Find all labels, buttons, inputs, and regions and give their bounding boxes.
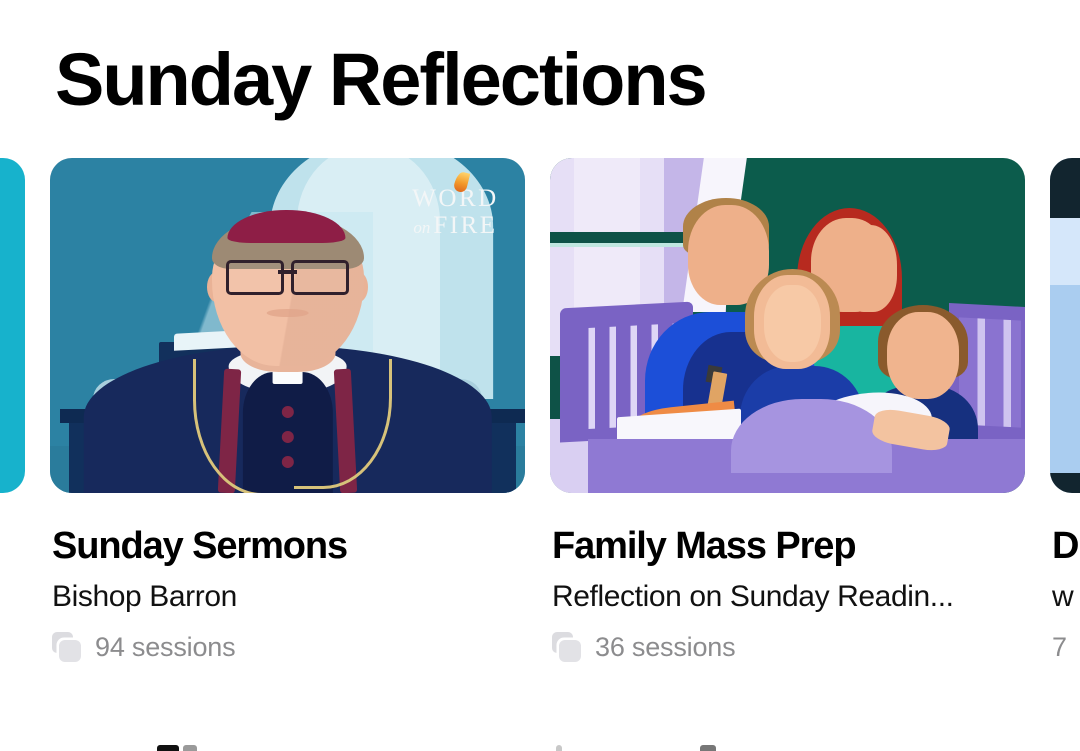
layers-icon bbox=[552, 632, 582, 662]
card-text-family-mass-prep: Family Mass Prep Reflection on Sunday Re… bbox=[550, 524, 1025, 663]
card-subtitle: w bbox=[1052, 579, 1080, 615]
teal-cover-art bbox=[0, 158, 25, 493]
program-card-family-mass-prep[interactable]: Family Mass Prep Reflection on Sunday Re… bbox=[550, 158, 1025, 663]
card-meta: 94 sessions bbox=[52, 631, 523, 663]
card-artwork-peek-right bbox=[1050, 158, 1080, 493]
card-artwork-family-mass-prep[interactable] bbox=[550, 158, 1025, 493]
eyeglasses-right-lens bbox=[291, 260, 349, 294]
eyeglasses-left-lens bbox=[226, 260, 284, 294]
girl-face bbox=[764, 285, 821, 362]
card-artwork-peek-left bbox=[0, 158, 25, 493]
card-title: D bbox=[1052, 524, 1080, 568]
program-card-sunday-sermons[interactable]: WORD onFIRE Sunday Sermons Bishop Barron… bbox=[50, 158, 525, 663]
layers-icon bbox=[52, 632, 82, 662]
logo-word-on: on bbox=[413, 218, 430, 237]
card-sessions-count: 94 sessions bbox=[95, 631, 235, 663]
word-on-fire-logo: WORD onFIRE bbox=[403, 174, 508, 238]
eyeglasses-bridge bbox=[278, 270, 297, 274]
next-section-bleed bbox=[0, 745, 1080, 751]
sunday-reflections-screen: Sunday Reflections bbox=[0, 0, 1080, 751]
bishop-barron-illustration: WORD onFIRE bbox=[50, 158, 525, 493]
card-title: Sunday Sermons bbox=[52, 524, 523, 568]
card-sessions-count: 7 bbox=[1052, 631, 1080, 663]
page-title: Sunday Reflections bbox=[55, 40, 706, 120]
card-meta: 36 sessions bbox=[552, 631, 1023, 663]
card-artwork-sunday-sermons[interactable]: WORD onFIRE bbox=[50, 158, 525, 493]
card-sessions-count: 36 sessions bbox=[595, 631, 735, 663]
mother-face bbox=[840, 225, 897, 312]
logo-line-2: onFIRE bbox=[403, 213, 508, 238]
card-text-peek-left bbox=[0, 524, 25, 551]
program-carousel[interactable]: WORD onFIRE Sunday Sermons Bishop Barron… bbox=[0, 158, 1080, 718]
card-subtitle: Bishop Barron bbox=[52, 579, 523, 615]
boy-head bbox=[887, 312, 958, 399]
program-card-peek-left[interactable] bbox=[0, 158, 25, 551]
card-text-peek-right: D w 7 bbox=[1050, 524, 1080, 663]
card-title: Family Mass Prep bbox=[552, 524, 1023, 568]
card-text-sunday-sermons: Sunday Sermons Bishop Barron 94 sessions bbox=[50, 524, 525, 663]
logo-word-fire: FIRE bbox=[433, 212, 497, 239]
navy-cover-art bbox=[1050, 158, 1080, 493]
program-card-peek-right[interactable]: D w 7 bbox=[1050, 158, 1080, 663]
wall-shelf bbox=[550, 232, 702, 244]
family-reading-illustration bbox=[550, 158, 1025, 493]
card-subtitle: Reflection on Sunday Readin... bbox=[552, 579, 1023, 615]
wall-shelf-edge bbox=[550, 243, 702, 247]
